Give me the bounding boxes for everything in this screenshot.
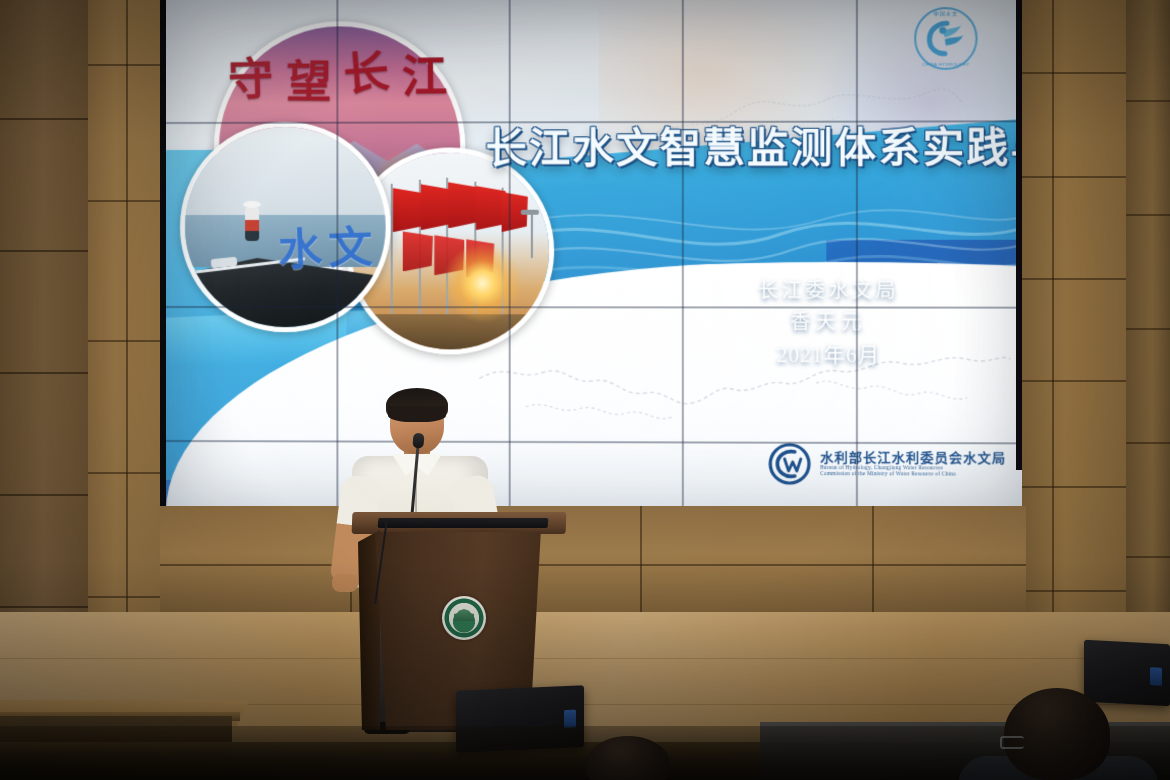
china-hydrology-logo: 中国水文 CHINA HYDROLOGY [914, 7, 977, 70]
presenter-hair [386, 388, 448, 422]
wall-panel-grid-left [88, 0, 164, 712]
calligraphy-shuiwen: 水文 [277, 209, 420, 292]
cw-mark-icon [767, 442, 812, 487]
audience-head-right [1004, 688, 1110, 780]
slide-subtitle-presenter: 香天元 [727, 307, 931, 339]
bureau-logo-cn: 水利部长江水利委员会水文局 [820, 451, 1006, 466]
wall-panel-below-screen [160, 506, 1026, 624]
lectern-left-side [358, 530, 380, 730]
microphone-head [412, 433, 424, 449]
bureau-logo-en-line2: Commission of the Ministry of Water Reso… [820, 471, 1006, 478]
calligraphy-char-1: 守 [227, 42, 276, 108]
slide-subtitle-date: 2021年6月 [727, 339, 931, 372]
presenter-left-hand [332, 574, 358, 592]
bureau-logo-text: 水利部长江水利委员会水文局 Bureau of Hydrology, Chang… [820, 451, 1006, 479]
speaker-brand-badge [1150, 667, 1162, 686]
slide-subtitle-block: 长江委水文局 香天元 2021年6月 [727, 276, 931, 372]
video-wall[interactable]: 守 望 长 江 [166, 0, 1031, 515]
china-hydrology-logo-en: CHINA HYDROLOGY [914, 62, 977, 67]
presentation-slide: 守 望 长 江 [166, 0, 1031, 515]
calligraphy-char-2: 望 [286, 45, 334, 110]
wall-panel-grid-far-right [1126, 0, 1170, 690]
speaker-brand-badge [564, 709, 576, 728]
wall-panel-far-left [0, 0, 96, 700]
university-seal-emblem [442, 596, 486, 640]
calligraphy-char-4: 江 [401, 39, 449, 105]
stage-monitor-speaker-right [1084, 640, 1170, 707]
china-hydrology-logo-mark [920, 13, 971, 64]
conference-photo-scene: 守 望 长 江 [0, 0, 1170, 780]
bureau-of-hydrology-logo: 水利部长江水利委员会水文局 Bureau of Hydrology, Chang… [767, 442, 1006, 487]
slide-subtitle-org: 长江委水文局 [727, 276, 931, 307]
wall-panel-right [1022, 0, 1130, 700]
lectern-laptop-slab [378, 518, 549, 528]
wall-panel-left [88, 0, 164, 712]
slide-main-title: 长江水文智慧监测体系实践与探索 [485, 126, 1014, 170]
calligraphy-title-shouwang-changjiang: 守 望 长 江 [227, 36, 450, 109]
wall-panel-far-right [1126, 0, 1170, 690]
wall-panel-grid-below [160, 506, 1026, 624]
calligraphy-char-3: 长 [341, 34, 393, 103]
wall-panel-grid-right [1022, 0, 1130, 700]
audience-eyeglasses [1000, 736, 1024, 749]
